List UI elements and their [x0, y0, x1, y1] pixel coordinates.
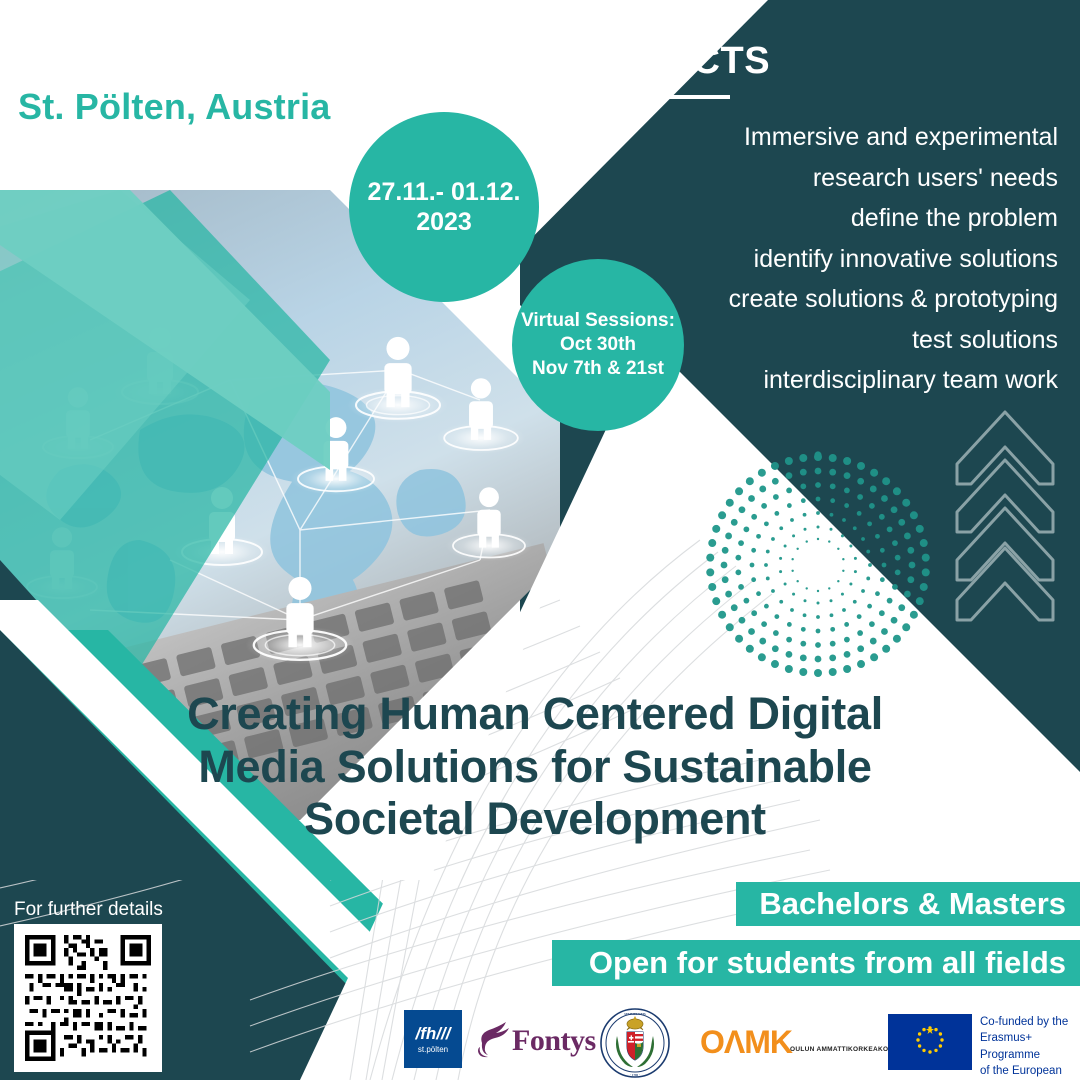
decor-dot	[869, 621, 875, 627]
decor-dot	[844, 488, 850, 494]
decor-dot	[898, 604, 905, 611]
decor-dot	[844, 503, 849, 508]
decor-dot	[842, 608, 846, 612]
erasmus-line-2: Erasmus+ Programme	[980, 1030, 1080, 1063]
decor-dot	[751, 548, 756, 553]
decor-dot	[857, 511, 862, 516]
decor-dot	[759, 638, 766, 645]
decor-dot	[817, 538, 819, 540]
decor-dot	[748, 495, 755, 502]
decor-dot	[726, 499, 734, 507]
decor-dot	[849, 583, 852, 586]
decor-dot	[804, 599, 807, 602]
decor-dot	[712, 525, 720, 533]
decor-dot	[880, 577, 885, 582]
decor-dot	[738, 540, 744, 546]
decor-dot	[857, 630, 863, 636]
decor-dot	[726, 623, 734, 631]
decor-dot	[830, 513, 834, 517]
decor-dot	[746, 645, 754, 653]
decor-dot	[843, 457, 851, 465]
decor-dot	[842, 570, 844, 572]
decor-dot	[909, 562, 916, 569]
logo-fh-sub: st.pölten	[418, 1045, 448, 1054]
decor-dot	[844, 651, 851, 658]
qr-code-icon	[25, 935, 151, 1061]
decor-dot	[750, 563, 755, 568]
decor-dot	[904, 591, 911, 598]
decor-dot	[786, 637, 792, 643]
decor-dot	[857, 614, 862, 619]
decor-dot	[887, 598, 893, 604]
page-title: Creating Human Centered Digital Media So…	[150, 688, 920, 846]
decor-dot	[837, 548, 839, 550]
decor-dot	[817, 590, 819, 592]
decor-dot	[830, 528, 833, 531]
decor-dot	[881, 495, 888, 502]
decor-dot	[828, 587, 830, 589]
decor-dot	[815, 482, 821, 488]
decor-dot	[870, 469, 878, 477]
ects-panel: 5 ECTS Immersive and experimental resear…	[588, 40, 1058, 401]
decor-dot	[786, 472, 793, 479]
ects-item: define the problem	[588, 198, 1058, 239]
decor-dot	[893, 635, 901, 643]
decor-dot	[787, 503, 792, 508]
decor-dot	[785, 665, 793, 673]
decor-dot	[779, 600, 783, 604]
decor-dot	[796, 580, 798, 582]
decor-dot	[764, 521, 769, 526]
decor-dot	[842, 558, 844, 560]
qr-label: For further details	[14, 899, 163, 921]
date-line-2: 2023	[416, 208, 472, 236]
decor-dot	[806, 540, 808, 542]
decor-dot	[849, 545, 852, 548]
decor-dot	[725, 591, 732, 598]
decor-dot	[708, 539, 716, 547]
ects-heading: 5 ECTS	[588, 40, 1058, 83]
decor-dot	[830, 627, 835, 632]
decor-dot	[771, 462, 779, 470]
decor-dot	[758, 469, 766, 477]
decor-dot	[731, 519, 738, 526]
decor-dot	[799, 668, 807, 676]
decor-dot	[869, 503, 875, 509]
decor-dot	[758, 653, 766, 661]
decor-dot	[784, 545, 787, 548]
decor-dot	[870, 638, 877, 645]
decor-dot	[814, 669, 822, 677]
decor-dot	[857, 494, 863, 500]
decor-dot	[844, 622, 849, 627]
erasmus-cofunded-text: Co-funded by the Erasmus+ Programme of t…	[980, 1014, 1080, 1080]
decor-dot	[774, 511, 779, 516]
location-label: St. Pölten, Austria	[18, 86, 438, 128]
decor-dot	[801, 498, 806, 503]
decor-dot	[706, 568, 714, 576]
decor-dot	[766, 550, 770, 554]
decor-dot	[815, 642, 821, 648]
decor-dot	[764, 563, 768, 567]
decor-dot	[879, 610, 885, 616]
decor-dot	[708, 583, 716, 591]
decor-dot	[922, 554, 930, 562]
decor-dot	[830, 483, 836, 489]
decor-dot	[857, 660, 865, 668]
decor-dot	[722, 576, 729, 583]
decor-dot	[870, 486, 877, 493]
decor-dot	[867, 604, 872, 609]
decor-dot	[751, 514, 757, 520]
decor-dot	[761, 621, 767, 627]
decor-dot	[816, 497, 821, 502]
decor-dot	[887, 526, 893, 532]
qr-code[interactable]	[14, 924, 162, 1072]
decor-dot	[902, 623, 910, 631]
decor-dot	[786, 651, 793, 658]
decor-dot	[746, 477, 754, 485]
decor-dot	[904, 533, 911, 540]
decor-dot	[816, 615, 820, 619]
decor-dot	[800, 654, 807, 661]
ects-item: research users' needs	[588, 158, 1058, 199]
decor-dot	[882, 563, 887, 568]
logo-semmelweis-university: SEMMELWEIS · 1769 ·	[597, 1006, 673, 1080]
decor-dot	[841, 593, 844, 596]
erasmus-line-1: Co-funded by the	[980, 1014, 1080, 1030]
decor-dot	[743, 526, 749, 532]
decor-dot	[718, 611, 726, 619]
fontys-dolphin-icon	[478, 1021, 512, 1061]
decor-dot	[837, 580, 839, 582]
ects-item: interdisciplinary team work	[588, 360, 1058, 401]
logo-fontys: Fontys	[478, 1018, 596, 1064]
decor-dot	[731, 604, 738, 611]
decor-dot	[861, 537, 865, 541]
decor-dot	[706, 554, 714, 562]
logo-fh-st-poelten: /fh/// st.pölten	[404, 1010, 462, 1068]
decor-dot	[771, 589, 775, 593]
decor-dot	[751, 577, 756, 582]
decor-dot	[779, 557, 782, 560]
decor-dot	[791, 558, 793, 560]
decor-dot	[916, 525, 924, 533]
decor-dot	[875, 591, 880, 596]
decor-dot	[771, 537, 775, 541]
decor-dot	[830, 641, 836, 647]
decor-dot	[756, 591, 761, 596]
decor-dot	[895, 555, 901, 561]
decor-dot	[790, 518, 794, 522]
decor-dot	[922, 568, 930, 576]
decor-dot	[882, 477, 890, 485]
decor-dot	[857, 462, 865, 470]
decor-dot	[816, 511, 820, 515]
decor-dot	[910, 511, 918, 519]
decor-dot	[829, 454, 837, 462]
decor-dot	[761, 503, 767, 509]
erasmus-line-3: of the European Union	[980, 1063, 1080, 1080]
title-line-3: Societal Development	[304, 793, 766, 844]
decor-dot	[817, 602, 820, 605]
decor-dot	[771, 660, 779, 668]
decor-dot	[898, 519, 905, 526]
decor-dot	[880, 548, 885, 553]
decor-dot	[829, 469, 836, 476]
decor-dot	[843, 665, 851, 673]
decor-dot	[815, 656, 822, 663]
decor-dot	[791, 570, 793, 572]
logo-fh-main: /fh///	[416, 1025, 451, 1042]
date-line-1: 27.11.- 01.12.	[368, 178, 521, 206]
decor-dot	[786, 488, 792, 494]
decor-dot	[759, 486, 766, 493]
decor-dot	[857, 645, 864, 652]
poster-canvas: St. Pölten, Austria 27.11.- 01.12. 2023 …	[0, 0, 1080, 1080]
decor-dot	[735, 635, 743, 643]
decor-dot	[910, 611, 918, 619]
decor-dot	[773, 630, 779, 636]
decor-dot	[764, 604, 769, 609]
ects-item: test solutions	[588, 320, 1058, 361]
decor-dot	[844, 637, 850, 643]
decor-dot	[779, 526, 783, 530]
decor-dot	[790, 608, 794, 612]
decor-dot	[804, 528, 807, 531]
decor-dot	[861, 589, 865, 593]
ects-item: create solutions & prototyping	[588, 279, 1058, 320]
decor-dot	[712, 597, 720, 605]
ects-list: Immersive and experimental research user…	[588, 117, 1058, 401]
ects-item: Immersive and experimental	[588, 117, 1058, 158]
decor-dot	[735, 555, 741, 561]
decor-dot	[920, 539, 928, 547]
decor-dot	[857, 478, 864, 485]
eu-flag-icon	[888, 1014, 972, 1070]
decor-dot	[881, 628, 888, 635]
decor-dot	[892, 584, 898, 590]
decor-dot	[772, 645, 779, 652]
decor-dot	[722, 547, 729, 554]
decor-dot	[842, 518, 846, 522]
decor-dot	[866, 577, 870, 581]
decor-dot	[853, 600, 857, 604]
open-for-students-banner: Open for students from all fields	[552, 940, 1080, 986]
decor-dot	[882, 645, 890, 653]
decor-dot	[920, 583, 928, 591]
decor-dot	[817, 526, 820, 529]
date-badge: 27.11.- 01.12. 2023	[349, 112, 539, 302]
decor-dot	[879, 514, 885, 520]
decor-dot	[743, 598, 749, 604]
decor-dot	[735, 487, 743, 495]
decor-dot	[830, 599, 833, 602]
decor-dot	[718, 511, 726, 519]
decor-dot	[735, 569, 741, 575]
decor-dot	[779, 570, 782, 573]
semmelweis-seal-icon: SEMMELWEIS · 1769 ·	[597, 1006, 673, 1080]
decor-dot	[756, 534, 761, 539]
decor-dot	[830, 613, 834, 617]
decor-dot	[828, 540, 830, 542]
decor-dot	[739, 506, 746, 513]
decor-dot	[895, 569, 901, 575]
decor-dot	[844, 472, 851, 479]
svg-text:· 1769 ·: · 1769 ·	[630, 1073, 640, 1077]
decor-dot	[902, 499, 910, 507]
decor-dot	[773, 494, 779, 500]
decor-dot	[803, 613, 807, 617]
logo-oamk: OΛMK	[700, 1026, 792, 1058]
decor-dot	[853, 526, 857, 530]
decor-dot	[891, 617, 898, 624]
decor-dot	[907, 547, 914, 554]
decor-dot	[784, 583, 787, 586]
decor-dot	[800, 469, 807, 476]
decor-dot	[854, 557, 857, 560]
decor-dot	[766, 577, 770, 581]
decor-dot	[801, 627, 806, 632]
decor-dot	[916, 597, 924, 605]
ects-divider	[634, 95, 730, 99]
decor-dot	[907, 576, 914, 583]
decor-dot	[772, 478, 779, 485]
decor-dot	[893, 487, 901, 495]
decor-dot	[800, 483, 806, 489]
decor-dot	[796, 548, 798, 550]
decor-dot	[829, 654, 836, 661]
decor-dot	[792, 593, 795, 596]
decor-dot	[748, 628, 755, 635]
decor-dot	[870, 653, 878, 661]
decor-dot	[751, 610, 757, 616]
logo-oamk-subtitle: OULUN AMMATTIKORKEAKOULU	[790, 1046, 903, 1053]
decor-dot	[830, 498, 835, 503]
decor-dot	[800, 641, 806, 647]
decor-dot	[854, 570, 857, 573]
decor-dot	[739, 617, 746, 624]
logo-eu-flag	[888, 1014, 972, 1070]
decor-dot	[803, 513, 807, 517]
title-line-1: Creating Human Centered Digital	[187, 688, 883, 739]
decor-dot	[841, 534, 844, 537]
decor-dot	[721, 562, 728, 569]
decor-dot	[774, 614, 779, 619]
logo-fontys-wordmark: Fontys	[512, 1026, 596, 1056]
ects-item: identify innovative solutions	[588, 239, 1058, 280]
decor-dot	[738, 584, 744, 590]
decor-dot	[799, 454, 807, 462]
decor-dot	[725, 533, 732, 540]
decor-dot	[868, 563, 872, 567]
decor-dot	[867, 521, 872, 526]
decor-dot	[816, 629, 821, 634]
decor-dot	[787, 622, 792, 627]
logo-oamk-wordmark: OΛMK	[700, 1026, 792, 1058]
decor-dot	[866, 550, 870, 554]
decor-dot	[806, 587, 808, 589]
decor-dot	[892, 540, 898, 546]
decor-dot	[875, 534, 880, 539]
decor-dot	[792, 534, 795, 537]
decor-dot	[785, 457, 793, 465]
decor-dot	[814, 453, 822, 461]
decor-dot	[829, 668, 837, 676]
svg-text:SEMMELWEIS: SEMMELWEIS	[624, 1012, 646, 1016]
title-line-2: Media Solutions for Sustainable	[198, 741, 871, 792]
bachelors-masters-banner: Bachelors & Masters	[736, 882, 1080, 926]
decor-dot	[891, 506, 898, 513]
decor-dot	[815, 468, 822, 475]
